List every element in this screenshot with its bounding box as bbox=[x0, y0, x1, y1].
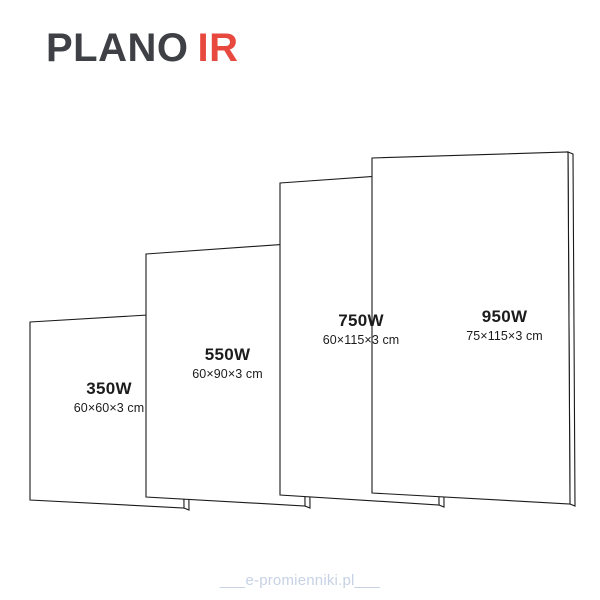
panel-power-550w: 550W bbox=[150, 345, 305, 365]
panel-label-350w: 350W 60×60×3 cm bbox=[34, 379, 184, 416]
site-watermark: ___e-promienniki.pl___ bbox=[0, 572, 600, 589]
panel-dimensions-550w: 60×90×3 cm bbox=[150, 367, 305, 382]
product-size-comparison-figure: PLANOIR 350W 60×60×3 cm 550W 60×90×3 cm … bbox=[0, 0, 600, 600]
panel-label-950w: 950W 75×115×3 cm bbox=[437, 307, 572, 344]
panel-power-750w: 750W bbox=[282, 311, 440, 331]
panel-power-950w: 950W bbox=[437, 307, 572, 327]
panels-illustration bbox=[0, 0, 600, 600]
panel-label-550w: 550W 60×90×3 cm bbox=[150, 345, 305, 382]
panel-label-750w: 750W 60×115×3 cm bbox=[282, 311, 440, 348]
panel-power-350w: 350W bbox=[34, 379, 184, 399]
panel-dimensions-350w: 60×60×3 cm bbox=[34, 401, 184, 416]
panel-dimensions-950w: 75×115×3 cm bbox=[437, 329, 572, 344]
panel-dimensions-750w: 60×115×3 cm bbox=[282, 333, 440, 348]
